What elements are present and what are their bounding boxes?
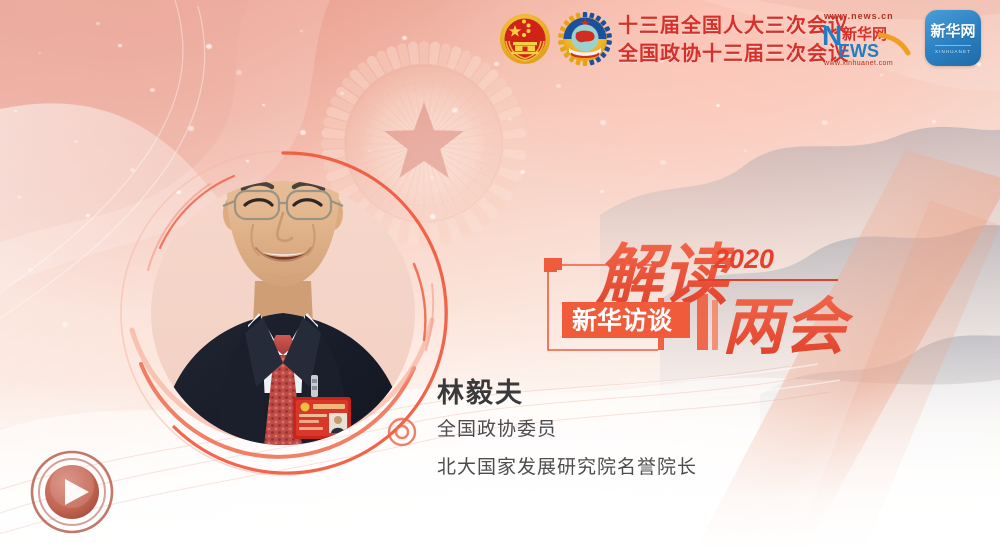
title-year: 2020 bbox=[713, 244, 774, 274]
speaker-info: 林毅夫 全国政协委员 北大国家发展研究院名誉院长 bbox=[437, 376, 697, 486]
sparkle-dot bbox=[86, 214, 90, 217]
sparkle-dot bbox=[556, 84, 561, 88]
sparkle-dot bbox=[600, 190, 604, 193]
xinhuanet-app-icon[interactable]: 新华网 XINHUANET bbox=[925, 10, 981, 66]
sparkle-dot bbox=[18, 196, 21, 198]
speaker-title-1: 全国政协委员 bbox=[437, 412, 697, 448]
speaker-title-2: 北大国家发展研究院名誉院长 bbox=[437, 450, 697, 486]
xinhua-news-logo[interactable]: www.news.cn N 新华网 EWS www.xinhuanet.com bbox=[822, 9, 914, 67]
title-main-bottom: 两会 bbox=[722, 290, 854, 363]
national-emblem-icon bbox=[497, 11, 553, 67]
sparkle-dot bbox=[600, 120, 606, 125]
speaker-photo bbox=[151, 181, 415, 445]
sparkle-dot bbox=[660, 160, 666, 165]
cppcc-emblem-icon bbox=[557, 11, 613, 67]
app-icon-cn-label: 新华网 bbox=[930, 23, 975, 40]
speaker-name: 林毅夫 bbox=[437, 376, 697, 410]
sparkle-dot bbox=[744, 150, 747, 152]
svg-text:EWS: EWS bbox=[838, 41, 879, 61]
sparkle-dot bbox=[28, 268, 33, 272]
sparkle-dot bbox=[150, 88, 155, 92]
sparkle-dot bbox=[932, 120, 936, 123]
header-bar: 十三届全国人大三次会议 全国政协十三届三次会议 www.news.cn N 新华… bbox=[0, 0, 1000, 80]
sparkle-dot bbox=[262, 104, 265, 106]
sparkle-dot bbox=[822, 120, 828, 125]
speaker-portrait bbox=[132, 162, 434, 464]
session-title-line2: 全国政协十三届三次会议 bbox=[618, 40, 849, 68]
play-button[interactable] bbox=[30, 450, 114, 534]
sparkle-dot bbox=[14, 110, 17, 112]
sparkle-dot bbox=[716, 104, 720, 107]
sparkle-dot bbox=[74, 140, 78, 143]
title-badge: 新华访谈 bbox=[572, 306, 673, 335]
sparkle-dot bbox=[188, 126, 194, 131]
session-title: 十三届全国人大三次会议 全国政协十三届三次会议 bbox=[618, 12, 849, 68]
sparkle-dot bbox=[62, 322, 68, 327]
program-title-graphic: 解读 2020 两会 新华访谈 bbox=[540, 222, 860, 367]
sparkle-dot bbox=[300, 130, 306, 135]
app-icon-en-label: XINHUANET bbox=[935, 45, 971, 54]
session-title-line1: 十三届全国人大三次会议 bbox=[618, 12, 849, 40]
svg-text:www.xinhuanet.com: www.xinhuanet.com bbox=[823, 60, 893, 67]
interview-banner: 十三届全国人大三次会议 全国政协十三届三次会议 www.news.cn N 新华… bbox=[0, 0, 1000, 550]
